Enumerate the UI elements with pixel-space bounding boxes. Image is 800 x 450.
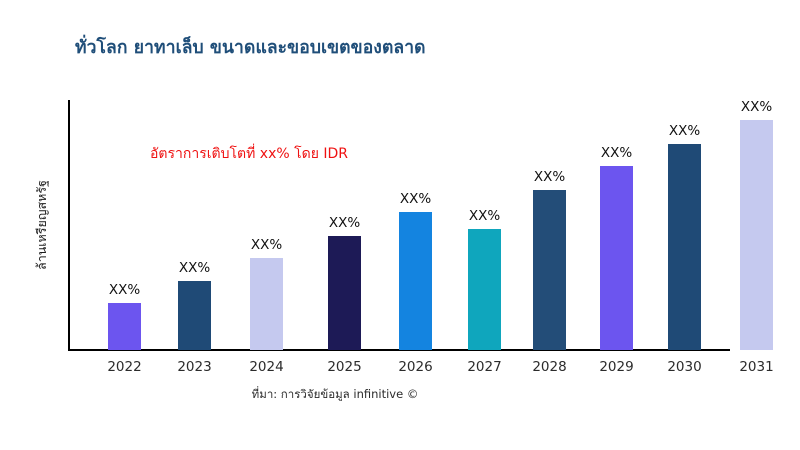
bar-group-2030[interactable]: XX%2030 [668,144,701,350]
bar-2031[interactable] [740,120,773,350]
chart-title: ทั่วโลก ยาทาเล็บ ขนาดและขอบเขตของตลาด [75,33,426,61]
bar-2030[interactable] [668,144,701,350]
bar-value-label-2022: XX% [109,282,140,298]
x-axis-tick-2023: 2023 [177,359,211,375]
bar-group-2023[interactable]: XX%2023 [178,281,211,350]
bar-group-2031[interactable]: XX%2031 [740,120,773,350]
bar-2028[interactable] [533,190,566,350]
bar-group-2022[interactable]: XX%2022 [108,303,141,350]
x-axis-tick-2029: 2029 [599,359,633,375]
source-note: ที่มา: การวิจัยข้อมูล infinitive © [0,386,670,404]
x-axis-tick-2027: 2027 [467,359,501,375]
bar-2023[interactable] [178,281,211,350]
bar-2029[interactable] [600,166,633,350]
bar-value-label-2031: XX% [741,99,772,115]
bar-value-label-2023: XX% [179,260,210,276]
x-axis-tick-2024: 2024 [249,359,283,375]
bar-group-2025[interactable]: XX%2025 [328,236,361,350]
bar-group-2028[interactable]: XX%2028 [533,190,566,350]
cagr-annotation: อัตราการเติบโตที่ xx% โดย IDR [150,143,348,165]
chart-canvas: ทั่วโลก ยาทาเล็บ ขนาดและขอบเขตของตลาด ล้… [0,0,800,450]
bar-2025[interactable] [328,236,361,350]
bar-2024[interactable] [250,258,283,350]
x-axis-tick-2022: 2022 [107,359,141,375]
x-axis-tick-2028: 2028 [532,359,566,375]
x-axis-tick-2025: 2025 [327,359,361,375]
bar-value-label-2026: XX% [400,191,431,207]
y-axis-label: ล้านเหรียญสหรัฐ [32,100,48,350]
bar-2022[interactable] [108,303,141,350]
bar-2026[interactable] [399,212,432,350]
x-axis-tick-2026: 2026 [398,359,432,375]
bar-group-2029[interactable]: XX%2029 [600,166,633,350]
bar-value-label-2025: XX% [329,215,360,231]
bar-value-label-2029: XX% [601,145,632,161]
bar-value-label-2030: XX% [669,123,700,139]
y-axis-line [68,100,70,350]
bar-value-label-2027: XX% [469,208,500,224]
bar-value-label-2024: XX% [251,237,282,253]
bar-group-2024[interactable]: XX%2024 [250,258,283,350]
bar-2027[interactable] [468,229,501,350]
bar-group-2027[interactable]: XX%2027 [468,229,501,350]
x-axis-tick-2030: 2030 [667,359,701,375]
bar-group-2026[interactable]: XX%2026 [399,212,432,350]
x-axis-tick-2031: 2031 [739,359,773,375]
bar-value-label-2028: XX% [534,169,565,185]
